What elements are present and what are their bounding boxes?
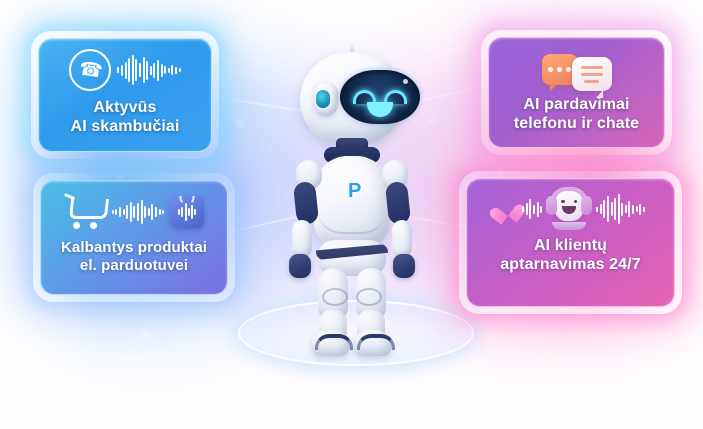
robot-forearm-left <box>292 220 312 258</box>
robot-hand-left <box>289 254 311 278</box>
card-talking-products[interactable]: Kalbantys produktai el. parduotuvei <box>40 180 228 295</box>
card-support-icons <box>496 185 645 233</box>
bokeh-particle <box>236 120 242 126</box>
bokeh-particle <box>648 170 652 174</box>
robot-foot-left <box>312 330 350 356</box>
message-lines-icon <box>572 57 612 91</box>
card-support-title-line1: AI klientų <box>500 237 640 256</box>
tag-waveform-icon <box>178 203 196 221</box>
bokeh-particle <box>258 60 262 64</box>
card-products-icons <box>64 191 204 233</box>
card-calls-title-line2: AI skambučiai <box>71 118 180 137</box>
price-tag-icon <box>170 196 204 228</box>
robot-visor-glint <box>403 79 408 84</box>
phone-icon: ☎ <box>69 49 111 91</box>
robot-chest-logo: P <box>348 180 361 203</box>
card-support-title: AI klientų aptarnavimas 24/7 <box>500 237 640 275</box>
robot-ear-left <box>314 82 338 116</box>
bokeh-particle <box>252 250 256 254</box>
robot-knee-left <box>322 288 348 306</box>
bokeh-particle <box>48 300 55 307</box>
card-chat-title: AI pardavimai telefonu ir chate <box>514 96 639 134</box>
robot-forearm-right <box>392 220 412 258</box>
robot-smile <box>367 102 393 117</box>
robot-visor <box>340 70 420 124</box>
card-calls-icons: ☎ <box>69 49 180 91</box>
waveform-icon-left <box>522 199 542 219</box>
card-calls-title: Aktyvūs AI skambučiai <box>71 99 180 137</box>
ai-assistant-robot: P <box>272 52 432 352</box>
card-chat-icons <box>542 48 612 90</box>
robot-hand-right <box>393 254 415 278</box>
bokeh-particle <box>300 36 305 41</box>
bokeh-particle <box>640 320 647 327</box>
bokeh-particle <box>188 318 193 323</box>
waveform-icon-right <box>596 194 645 224</box>
bokeh-particle <box>520 330 525 335</box>
waveform-icon <box>112 200 164 224</box>
card-active-ai-calls[interactable]: ☎ Aktyvūs AI skambučiai <box>38 38 212 152</box>
bokeh-particle <box>24 120 29 125</box>
card-chat-title-line2: telefonu ir chate <box>514 115 639 134</box>
bokeh-particle <box>140 330 149 339</box>
card-products-title: Kalbantys produktai el. parduotuvei <box>61 239 207 274</box>
bokeh-particle <box>360 24 365 29</box>
bokeh-particle <box>12 210 18 216</box>
card-ai-customer-support[interactable]: AI klientų aptarnavimas 24/7 <box>466 178 675 307</box>
shopping-cart-icon <box>64 195 106 229</box>
card-ai-sales-phone-chat[interactable]: AI pardavimai telefonu ir chate <box>488 37 665 148</box>
bokeh-particle <box>70 360 76 366</box>
robot-knee-right <box>356 288 382 306</box>
heart-icon <box>495 198 520 221</box>
robot-head <box>300 52 404 144</box>
robot-foot-right <box>354 330 392 356</box>
bokeh-particle <box>452 250 459 257</box>
robot-upper-arm-right <box>385 181 411 225</box>
card-chat-title-line1: AI pardavimai <box>514 96 639 115</box>
card-products-title-line2: el. parduotuvei <box>61 257 207 275</box>
headset-agent-icon <box>546 188 592 230</box>
infographic-stage: P ☎ Aktyvūs AI skambučiai <box>0 0 703 429</box>
card-calls-title-line1: Aktyvūs <box>71 99 180 118</box>
waveform-icon <box>117 55 180 85</box>
bokeh-particle <box>498 170 503 175</box>
card-support-title-line2: aptarnavimas 24/7 <box>500 256 640 275</box>
card-products-title-line1: Kalbantys produktai <box>61 239 207 257</box>
